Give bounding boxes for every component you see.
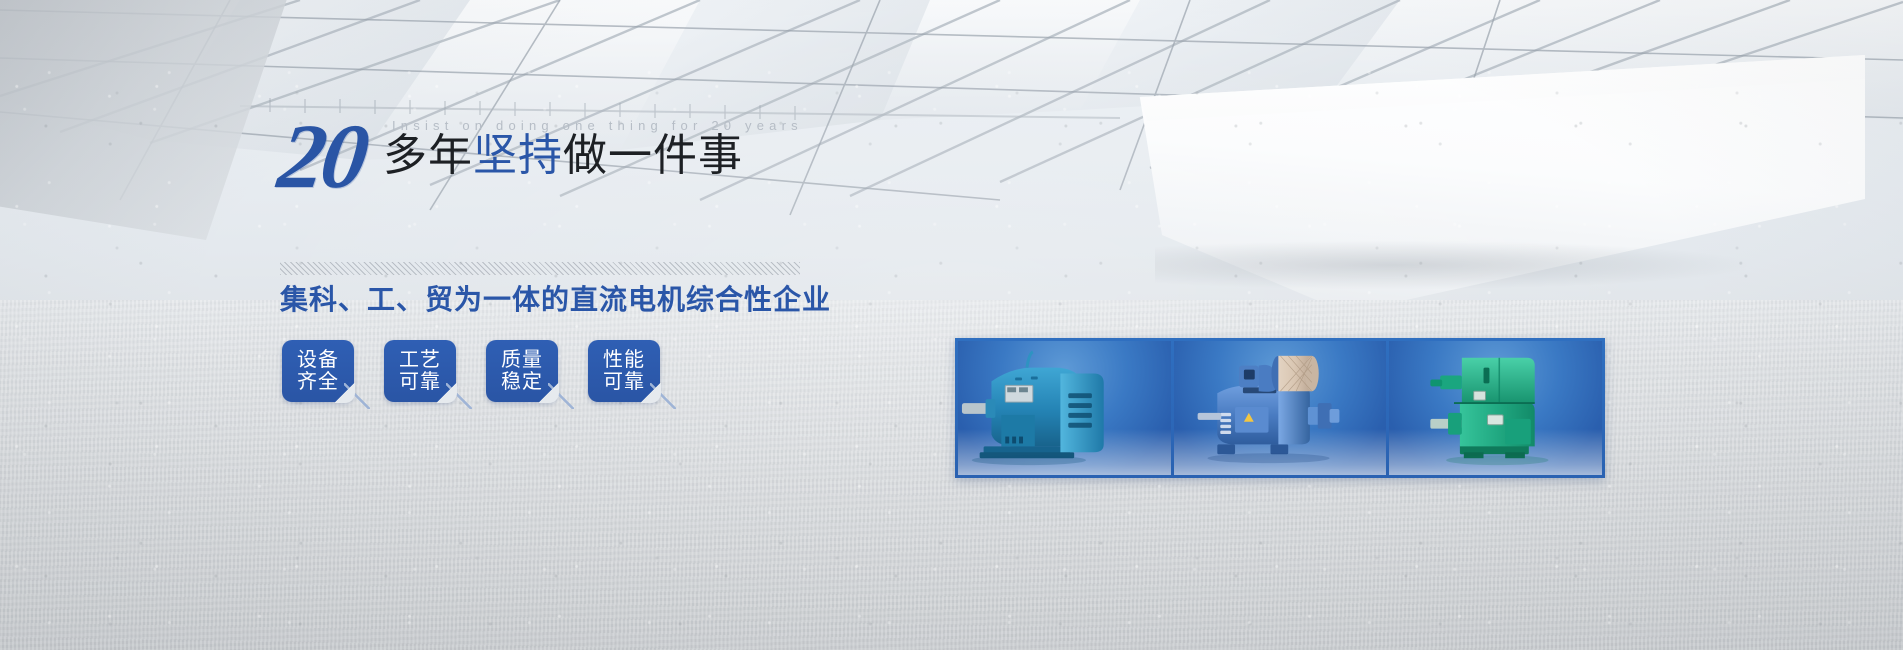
feature-badge-craft[interactable]: 工艺 可靠 (384, 340, 456, 402)
product-image-dc-motor-blower-blue[interactable] (1174, 341, 1387, 475)
badge-line2: 稳定 (501, 371, 543, 393)
feature-badge-quality[interactable]: 质量 稳定 (486, 340, 558, 402)
badge-line1: 设备 (297, 349, 339, 371)
badge-tail-icon (344, 383, 370, 409)
badge-tail-icon (650, 383, 676, 409)
background-floor-texture (0, 0, 1903, 650)
badge-tail-icon (446, 383, 472, 409)
badge-line1: 工艺 (399, 349, 441, 371)
banner-subtitle: 集科、工、贸为一体的直流电机综合性企业 (280, 278, 831, 318)
headline-chinese: 多年坚持做一件事 (383, 134, 743, 178)
badge-tail-icon (548, 383, 574, 409)
badge-line2: 齐全 (297, 371, 339, 393)
badge-line2: 可靠 (603, 371, 645, 393)
headline-chinese-highlight: 坚持 (473, 131, 563, 180)
product-image-dc-motor-large-blue[interactable] (958, 341, 1171, 475)
badge-line1: 质量 (501, 349, 543, 371)
headline-chinese-prefix: 多年 (383, 131, 473, 180)
banner-copy: 20 Insist on doing one thing for 20 year… (280, 120, 900, 196)
hatched-divider (280, 262, 800, 275)
feature-badge-list: 设备 齐全 工艺 可靠 质量 稳定 性能 可靠 (282, 340, 660, 402)
feature-badge-performance[interactable]: 性能 可靠 (588, 340, 660, 402)
hero-banner: 20 Insist on doing one thing for 20 year… (0, 0, 1903, 650)
headline: 20 Insist on doing one thing for 20 year… (280, 120, 900, 196)
badge-line1: 性能 (603, 349, 645, 371)
product-gallery[interactable] (955, 338, 1605, 478)
feature-badge-equipment[interactable]: 设备 齐全 (282, 340, 354, 402)
badge-line2: 可靠 (399, 371, 441, 393)
product-image-dc-motor-green[interactable] (1389, 341, 1602, 475)
headline-chinese-suffix: 做一件事 (563, 131, 743, 180)
headline-number: 20 (274, 114, 370, 199)
